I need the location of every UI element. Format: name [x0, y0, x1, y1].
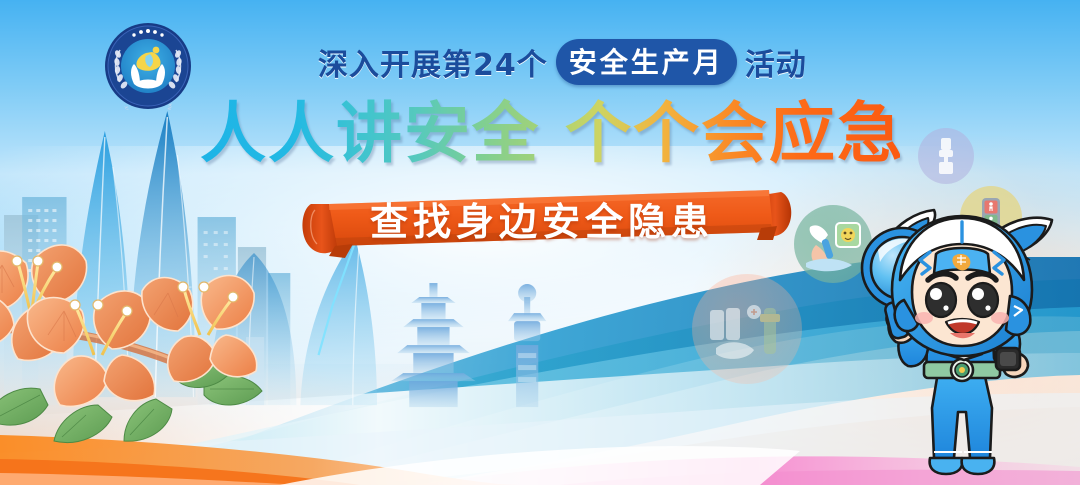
gas-valve-check-illustration	[692, 274, 802, 384]
bougainvillea-flowers	[0, 219, 278, 449]
xiamen-emergency-emblem: XIAMEN EMERGENCY MANAGEMENT	[104, 22, 192, 110]
seatbelt-icon	[918, 128, 974, 184]
safety-month-banner: XIAMEN EMERGENCY MANAGEMENT 深入开展第24个 安全生…	[0, 0, 1080, 485]
safety-mascot	[842, 196, 1080, 485]
sub-slogan-text: 查找身边安全隐患	[370, 196, 730, 248]
